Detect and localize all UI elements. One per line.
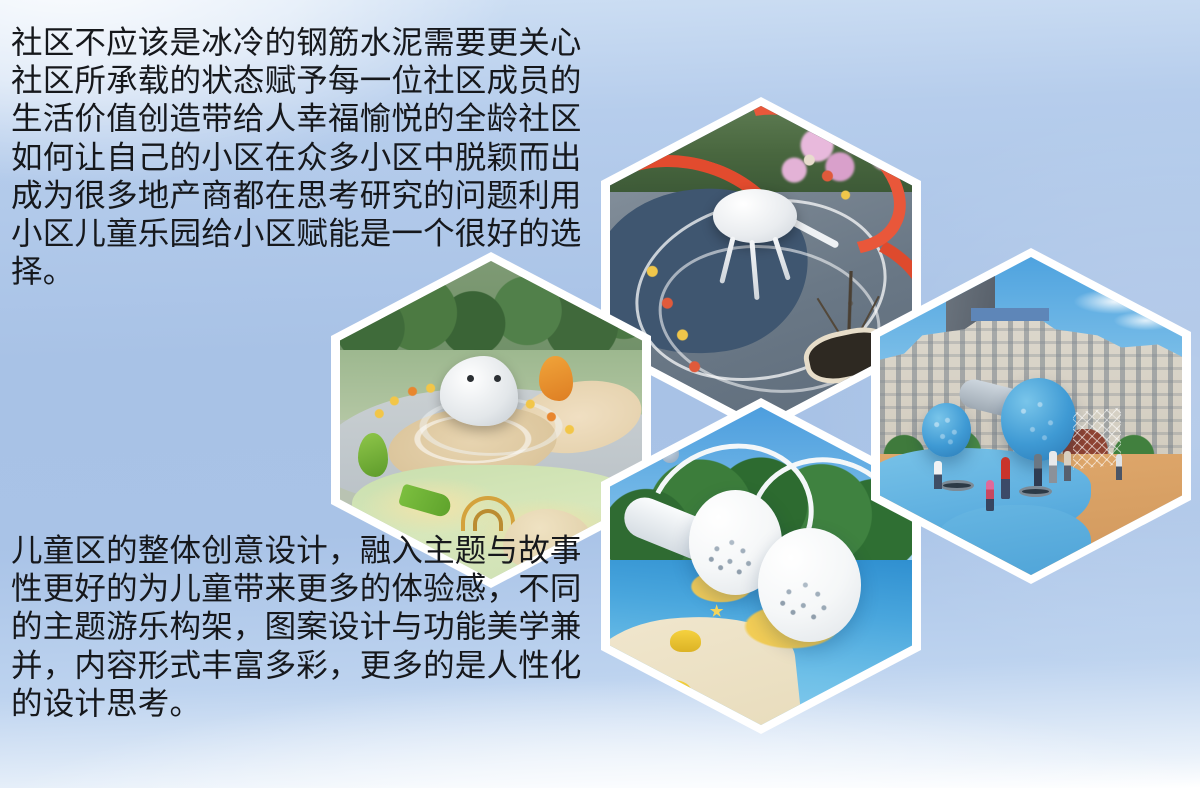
blue-sphere-large — [1001, 378, 1077, 461]
gallery-tile-image-blue-spheres — [880, 257, 1182, 575]
sphere-texture — [922, 403, 970, 457]
gallery-tile-image-aerial-track — [610, 106, 912, 424]
sphere-texture — [1001, 378, 1077, 461]
figure-adult-c — [1049, 451, 1057, 483]
play-dot-markers — [610, 106, 912, 424]
climbing-net — [1073, 407, 1121, 469]
blue-roof — [971, 308, 1050, 321]
trampoline-a — [940, 480, 973, 491]
gallery-tile-image-dandelion — [610, 407, 912, 725]
figure-adult-red-coat — [1001, 457, 1011, 498]
spaceship-pod-structure — [713, 189, 798, 243]
blue-sphere-small — [922, 403, 970, 457]
figure-child-pink-hat — [986, 480, 994, 512]
figure-adult-e — [1116, 454, 1123, 479]
scene-aerial-track — [610, 106, 912, 424]
dandelion-sphere-front — [758, 528, 861, 642]
figure-child-jumping — [934, 461, 941, 490]
paragraph-design-concept: 儿童区的整体创意设计，融入主题与故事性更好的为儿童带来更多的体验感，不同的主题游… — [11, 531, 611, 722]
scene-dandelion — [610, 407, 912, 725]
yellow-spinner-seat-a — [670, 630, 700, 652]
paragraph-community-intro: 社区不应该是冰冷的钢筋水泥需要更关心社区所承载的状态赋予每一位社区成员的生活价值… — [11, 23, 611, 290]
scene-blue-spheres — [880, 257, 1182, 575]
figure-adult-d — [1064, 451, 1071, 481]
figure-adult-b — [1034, 454, 1042, 486]
sphere-perforation-texture — [758, 528, 861, 642]
